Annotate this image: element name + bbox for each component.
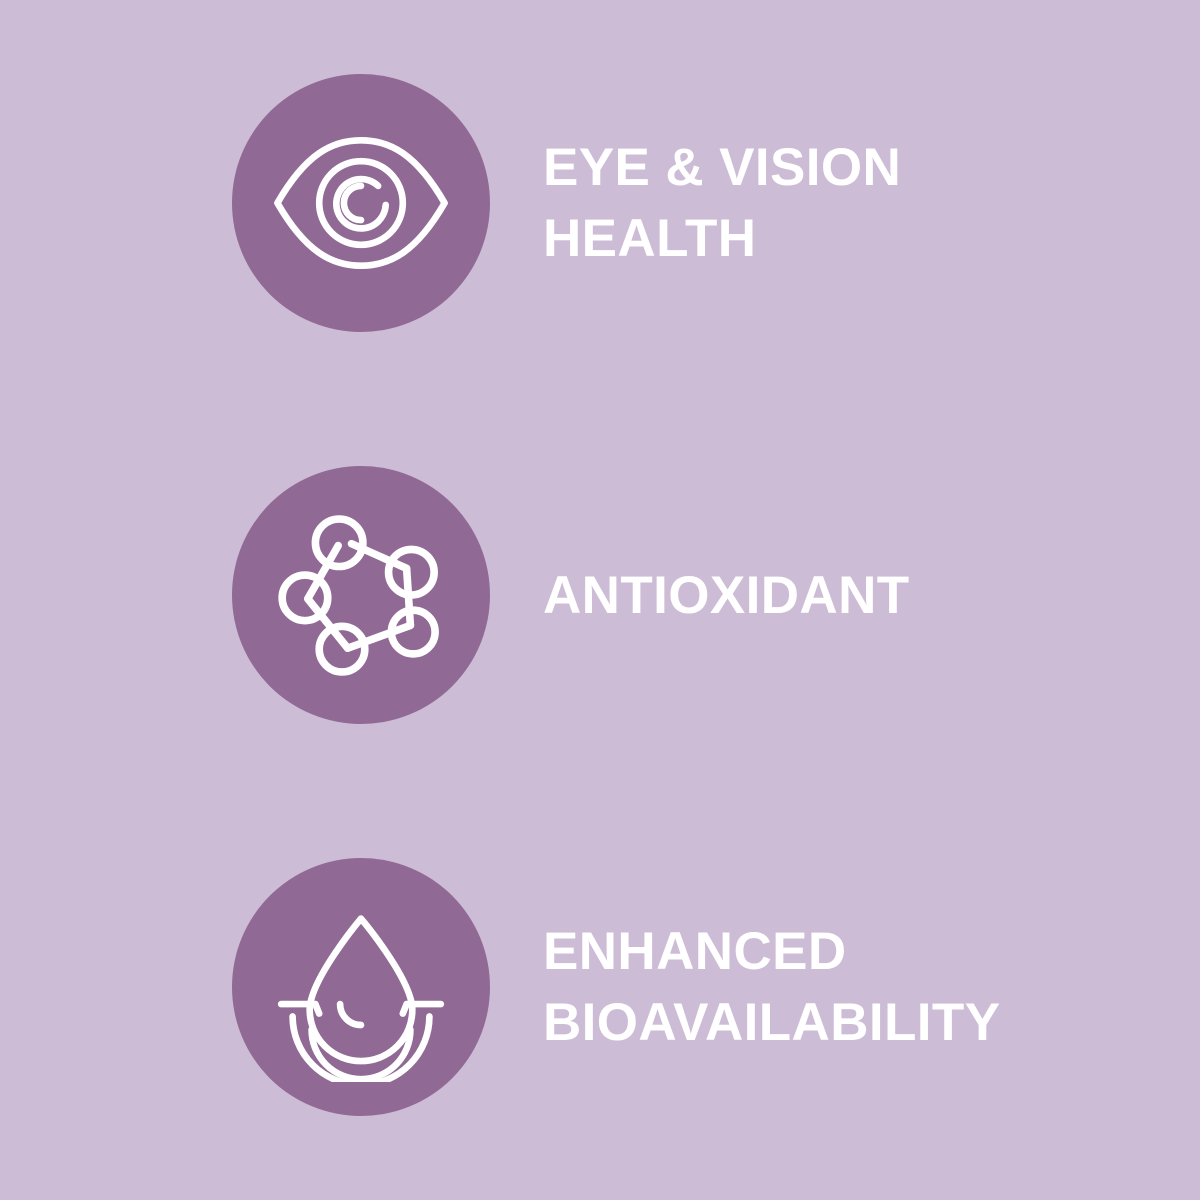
- water-droplet-ripple-icon: [266, 892, 456, 1082]
- benefits-panel: EYE & VISION HEALTH ANTIOXIDANT: [0, 0, 1200, 1200]
- benefit-label-antioxidant: ANTIOXIDANT: [543, 560, 910, 631]
- eye-icon-badge: [232, 74, 490, 332]
- benefit-label-eye-vision-health: EYE & VISION HEALTH: [543, 132, 901, 274]
- benefit-item-eye-vision-health: EYE & VISION HEALTH: [0, 74, 1200, 332]
- molecule-icon-badge: [232, 466, 490, 724]
- water-droplet-ripple-icon-badge: [232, 858, 490, 1116]
- benefit-label-enhanced-bioavailability: ENHANCED BIOAVAILABILITY: [543, 916, 1000, 1058]
- benefit-item-enhanced-bioavailability: ENHANCED BIOAVAILABILITY: [0, 858, 1200, 1116]
- molecule-icon: [266, 500, 456, 690]
- benefit-item-antioxidant: ANTIOXIDANT: [0, 466, 1200, 724]
- eye-icon: [266, 108, 456, 298]
